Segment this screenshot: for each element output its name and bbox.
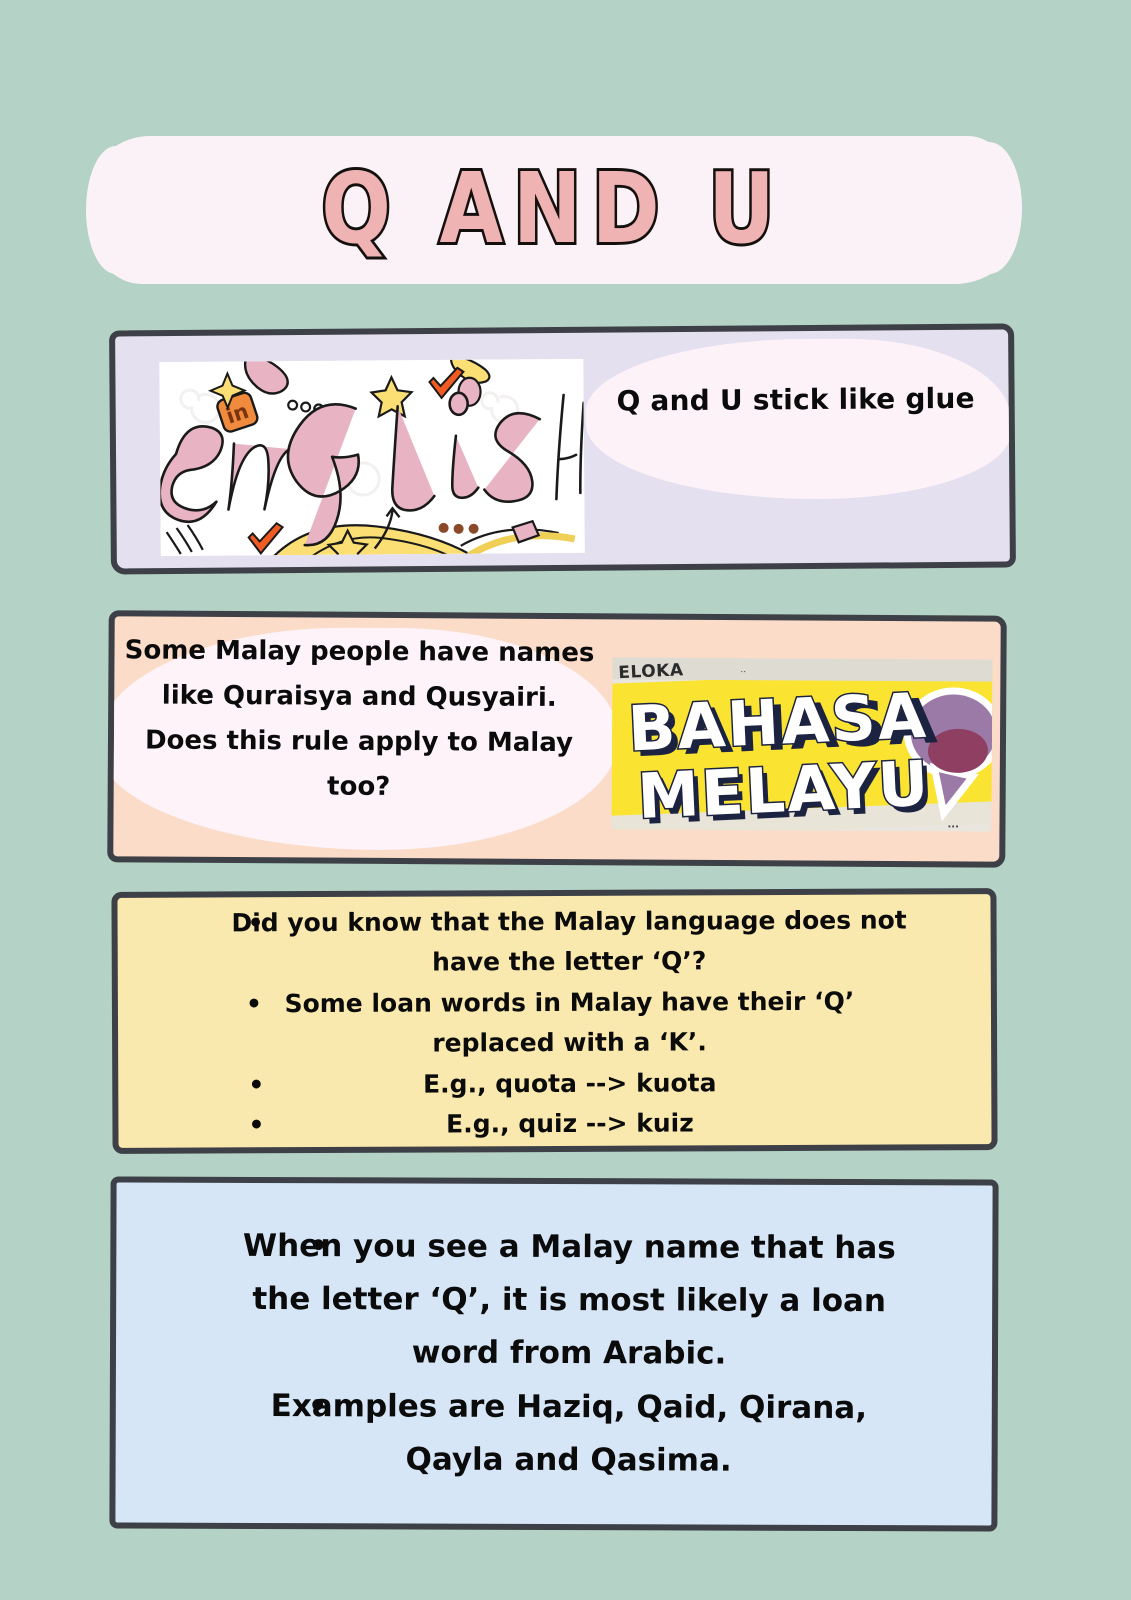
list-item-text: E.g., quiz --> kuiz (446, 1108, 694, 1138)
bullet-icon: • (247, 903, 263, 944)
panel-malay-facts: • Did you know that the Malay language d… (111, 888, 997, 1154)
svg-text:...: ... (947, 819, 958, 830)
list-item: • Some loan words in Malay have their ‘Q… (176, 981, 933, 1065)
svg-text:..: .. (740, 665, 746, 675)
page-title: Q AND U (321, 162, 785, 259)
panel-malay-question: Some Malay people have names like Qurais… (107, 610, 1007, 867)
poster-page: Q AND U (0, 0, 1131, 1600)
list-item-text: Did you know that the Malay language doe… (231, 905, 906, 977)
speech-bubble (585, 337, 1011, 500)
list-item: • E.g., quota --> kuota (176, 1062, 933, 1106)
malay-question-text: Some Malay people have names like Qurais… (124, 628, 595, 811)
bullet-icon: • (308, 1220, 328, 1273)
english-doodle-image: in (159, 359, 585, 556)
speech-bubble-text: Q and U stick like glue (595, 382, 995, 418)
bullet-icon: • (248, 1105, 264, 1146)
title-banner: Q AND U (92, 136, 1014, 284)
panel-malay-names: • When you see a Malay name that has the… (109, 1176, 998, 1531)
svg-text:ELOKA: ELOKA (618, 660, 684, 683)
list-item-text: Examples are Haziq, Qaid, Qirana, Qayla … (271, 1388, 868, 1479)
bahasa-melayu-image: ELOKA .. BAHASA BAHASA (611, 657, 992, 831)
bullet-icon: • (308, 1380, 328, 1433)
bullet-icon: • (246, 984, 262, 1025)
names-bullet-list: • When you see a Malay name that has the… (115, 1182, 992, 1525)
list-item-text: When you see a Malay name that has the l… (243, 1228, 896, 1372)
list-item: • Examples are Haziq, Qaid, Qirana, Qayl… (186, 1379, 922, 1488)
list-item: • Did you know that the Malay language d… (175, 900, 932, 984)
list-item: • E.g., quiz --> kuiz (176, 1102, 933, 1146)
list-item-text: Some loan words in Malay have their ‘Q’ … (284, 986, 854, 1057)
list-item: • When you see a Malay name that has the… (186, 1219, 923, 1382)
svg-text:MELAYU: MELAYU (636, 747, 932, 832)
bullet-icon: • (248, 1065, 264, 1106)
list-item-text: E.g., quota --> kuota (423, 1068, 717, 1098)
facts-bullet-list: • Did you know that the Malay language d… (117, 894, 991, 1148)
panel-english: in (109, 323, 1016, 574)
